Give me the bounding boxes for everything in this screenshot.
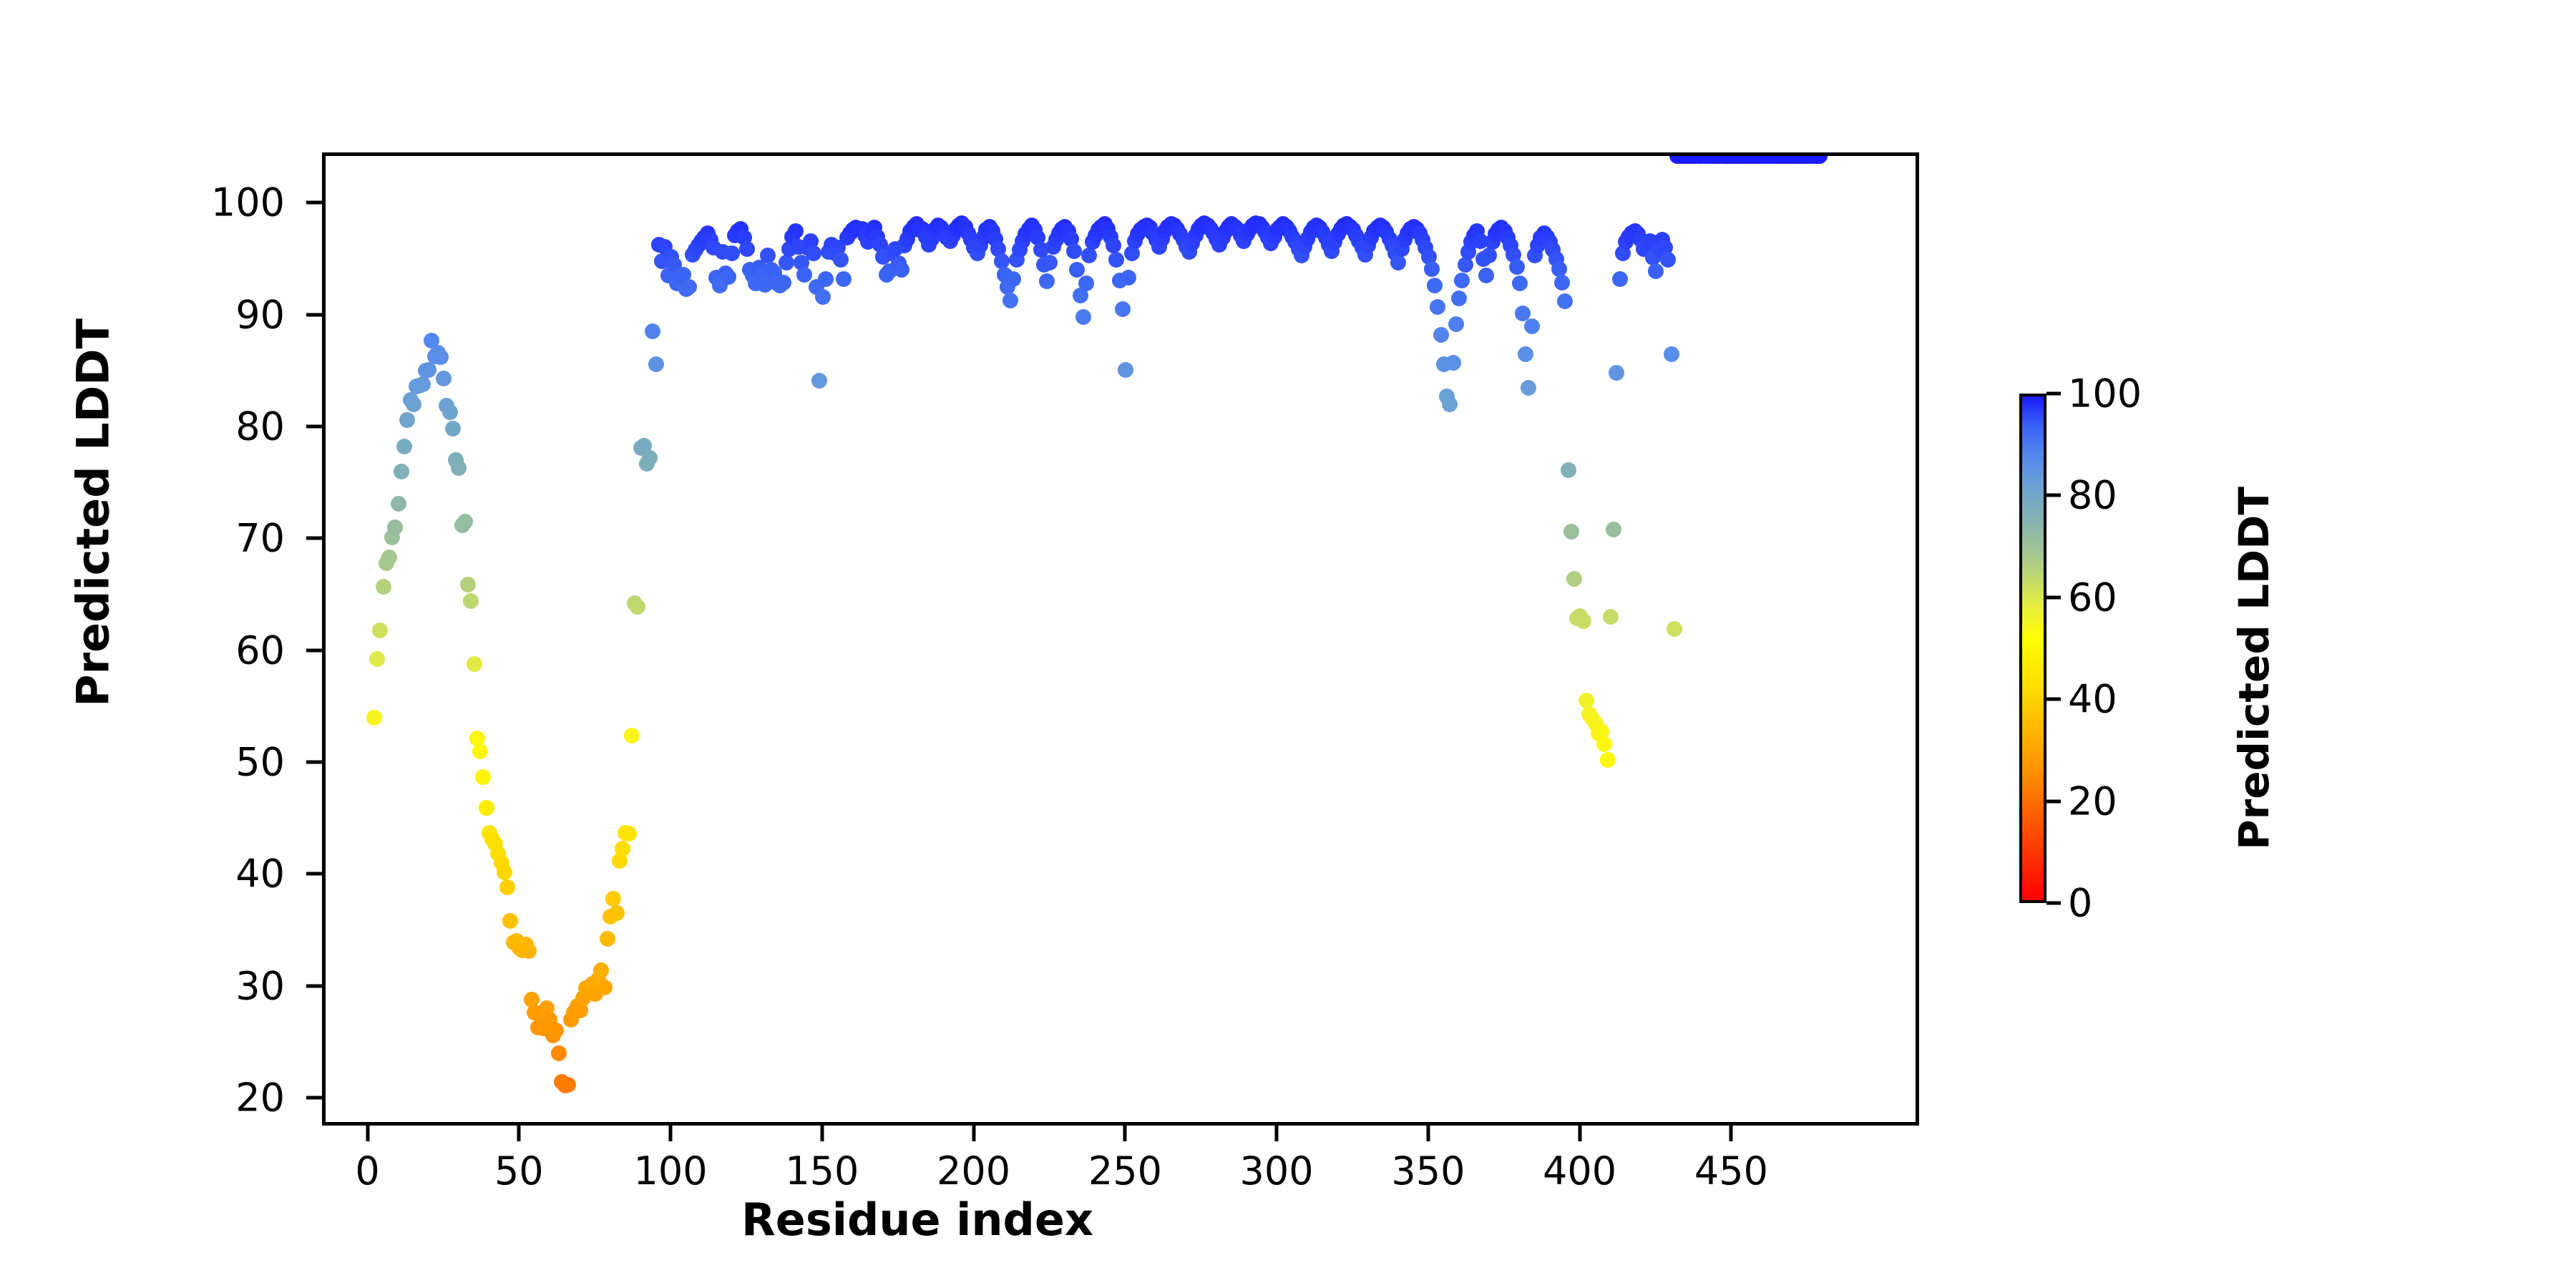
data-point: [1108, 252, 1124, 268]
data-point: [1075, 309, 1091, 325]
y-tick-label: 70: [170, 516, 285, 561]
y-tick-mark: [306, 872, 322, 876]
data-point: [1448, 316, 1464, 332]
data-point: [806, 245, 821, 261]
data-point: [1612, 271, 1628, 287]
y-tick-label: 80: [170, 404, 285, 449]
data-point: [1430, 299, 1445, 315]
data-point: [1118, 362, 1133, 378]
data-point: [463, 593, 479, 609]
data-point: [396, 439, 412, 454]
data-point: [433, 349, 449, 365]
data-point: [615, 841, 630, 857]
x-tick-label: 0: [355, 1148, 379, 1194]
data-point: [1451, 291, 1467, 306]
data-point: [648, 356, 664, 372]
colorbar-tick-label: 60: [2068, 575, 2117, 620]
data-point: [372, 623, 388, 638]
data-point: [1576, 613, 1591, 629]
colorbar-tick-mark: [2046, 902, 2061, 905]
data-point: [1442, 396, 1458, 412]
colorbar-tick-mark: [2046, 392, 2061, 396]
data-point: [1667, 621, 1682, 637]
data-point: [1664, 346, 1679, 362]
data-point: [1596, 736, 1612, 752]
data-point: [1424, 261, 1440, 277]
plot-area: [322, 152, 1919, 1126]
data-point: [760, 248, 776, 263]
data-point: [642, 450, 658, 466]
data-point: [724, 245, 740, 261]
data-point: [818, 271, 834, 287]
data-point: [600, 931, 615, 947]
x-tick-mark: [1275, 1126, 1279, 1141]
data-point: [1521, 380, 1536, 396]
data-point: [499, 879, 515, 895]
data-point: [1039, 273, 1055, 289]
data-point: [479, 800, 494, 816]
data-point: [1512, 275, 1528, 291]
data-point: [1566, 571, 1582, 587]
colorbar-gradient: [2019, 394, 2046, 903]
data-point: [366, 710, 382, 726]
data-point: [1524, 318, 1540, 334]
data-point: [1042, 255, 1058, 270]
x-tick-label: 200: [937, 1148, 1010, 1194]
data-point: [624, 728, 640, 743]
y-tick-label: 90: [170, 292, 285, 337]
data-point: [779, 255, 794, 270]
data-point: [605, 891, 621, 907]
data-point: [475, 769, 491, 785]
data-point: [796, 267, 812, 283]
y-tick-mark: [306, 201, 322, 205]
data-point: [811, 373, 827, 389]
x-tick-mark: [820, 1126, 824, 1141]
data-point: [1115, 301, 1131, 317]
data-point: [376, 579, 391, 595]
y-tick-label: 30: [170, 963, 285, 1008]
data-point: [1445, 355, 1461, 371]
data-point: [597, 980, 613, 995]
data-point: [721, 269, 736, 285]
data-point: [681, 279, 697, 295]
y-tick-mark: [306, 761, 322, 764]
data-point: [1454, 273, 1470, 288]
x-tick-mark: [1729, 1126, 1733, 1141]
x-tick-mark: [972, 1126, 975, 1141]
colorbar-tick-mark: [2046, 698, 2061, 701]
data-point: [1606, 522, 1621, 537]
x-tick-label: 300: [1240, 1148, 1314, 1194]
y-tick-mark: [306, 984, 322, 987]
colorbar-tick-label: 20: [2068, 779, 2117, 824]
data-point: [497, 864, 512, 880]
data-point: [467, 656, 482, 672]
data-point: [1081, 248, 1097, 263]
y-tick-label: 100: [170, 180, 285, 225]
data-point: [457, 514, 473, 530]
data-point: [815, 289, 831, 305]
colorbar-tick-mark: [2046, 494, 2061, 497]
colorbar-tick-label: 0: [2068, 881, 2092, 926]
data-point: [1427, 278, 1443, 293]
colorbar-tick-mark: [2046, 595, 2061, 599]
data-point: [1002, 293, 1018, 308]
data-point: [1478, 268, 1494, 283]
data-point: [421, 362, 436, 378]
x-tick-mark: [1578, 1126, 1581, 1141]
x-tick-mark: [1123, 1126, 1127, 1141]
x-tick-mark: [1426, 1126, 1430, 1141]
y-tick-mark: [306, 425, 322, 429]
data-point: [451, 460, 467, 476]
data-point: [1390, 255, 1406, 270]
data-point: [1561, 462, 1576, 478]
data-point: [442, 404, 458, 420]
x-tick-label: 50: [494, 1148, 544, 1194]
x-tick-mark: [669, 1126, 673, 1141]
colorbar-label: Predicted LDDT: [2230, 346, 2278, 990]
data-point: [645, 323, 660, 339]
data-point: [521, 943, 537, 959]
data-point: [836, 271, 852, 287]
data-point: [391, 496, 406, 512]
data-point: [1563, 524, 1579, 540]
data-point: [560, 1077, 576, 1093]
y-tick-label: 20: [170, 1075, 285, 1120]
data-point: [630, 599, 645, 615]
data-point: [460, 577, 476, 592]
data-point: [415, 376, 431, 392]
data-point: [1005, 271, 1021, 287]
data-point: [833, 252, 849, 268]
data-point: [551, 1045, 567, 1061]
data-point: [1433, 327, 1449, 343]
data-point: [776, 275, 791, 291]
data-point: [472, 743, 488, 759]
y-axis-label: Predicted LDDT: [67, 84, 119, 942]
data-point: [502, 913, 518, 929]
x-axis-label-text: Residue index: [741, 1194, 1093, 1246]
data-point: [788, 223, 804, 239]
colorbar-tick-mark: [2046, 799, 2061, 803]
data-point: [1554, 275, 1570, 291]
data-point: [1609, 365, 1624, 381]
x-axis-label: Residue index: [0, 1194, 2576, 1246]
data-point: [1600, 752, 1616, 768]
data-point: [1518, 346, 1533, 362]
y-tick-mark: [306, 313, 322, 316]
plddt-scatter-figure: 050100150200250300350400450 203040506070…: [0, 0, 2576, 1288]
data-point: [445, 421, 461, 436]
y-tick-mark: [306, 1096, 322, 1099]
data-point: [593, 962, 609, 978]
y-tick-label: 60: [170, 628, 285, 673]
data-point: [1509, 259, 1525, 275]
colorbar-tick-label: 80: [2068, 473, 2117, 518]
x-tick-mark: [517, 1126, 521, 1141]
data-point: [394, 464, 409, 479]
y-tick-label: 50: [170, 740, 285, 785]
data-point: [387, 519, 403, 535]
data-point: [436, 371, 452, 386]
data-point: [894, 262, 909, 278]
data-point: [621, 826, 637, 841]
y-tick-mark: [306, 537, 322, 540]
data-point: [406, 396, 421, 412]
data-point: [399, 412, 415, 428]
y-tick-label: 40: [170, 852, 285, 897]
data-point: [1648, 263, 1664, 279]
data-point: [381, 550, 397, 565]
data-point: [609, 905, 625, 921]
data-point: [548, 1023, 564, 1038]
data-point: [1660, 252, 1676, 268]
data-point: [739, 241, 755, 257]
y-tick-mark: [306, 648, 322, 652]
data-point: [1481, 248, 1497, 263]
data-point: [369, 651, 385, 667]
colorbar-tick-label: 100: [2068, 371, 2142, 416]
data-point: [1603, 609, 1619, 625]
x-tick-label: 250: [1088, 1148, 1162, 1194]
colorbar-tick-label: 40: [2068, 677, 2117, 722]
data-point: [1557, 293, 1573, 309]
data-point: [1106, 238, 1121, 253]
scatter-points-layer: [326, 156, 1916, 1122]
x-tick-label: 350: [1391, 1148, 1465, 1194]
x-tick-label: 100: [634, 1148, 708, 1194]
x-tick-mark: [366, 1126, 369, 1141]
x-tick-label: 400: [1543, 1148, 1616, 1194]
data-point: [1078, 275, 1094, 291]
x-tick-label: 150: [785, 1148, 859, 1194]
data-point: [1066, 243, 1082, 259]
data-point: [1121, 270, 1136, 286]
x-tick-label: 450: [1694, 1148, 1768, 1194]
